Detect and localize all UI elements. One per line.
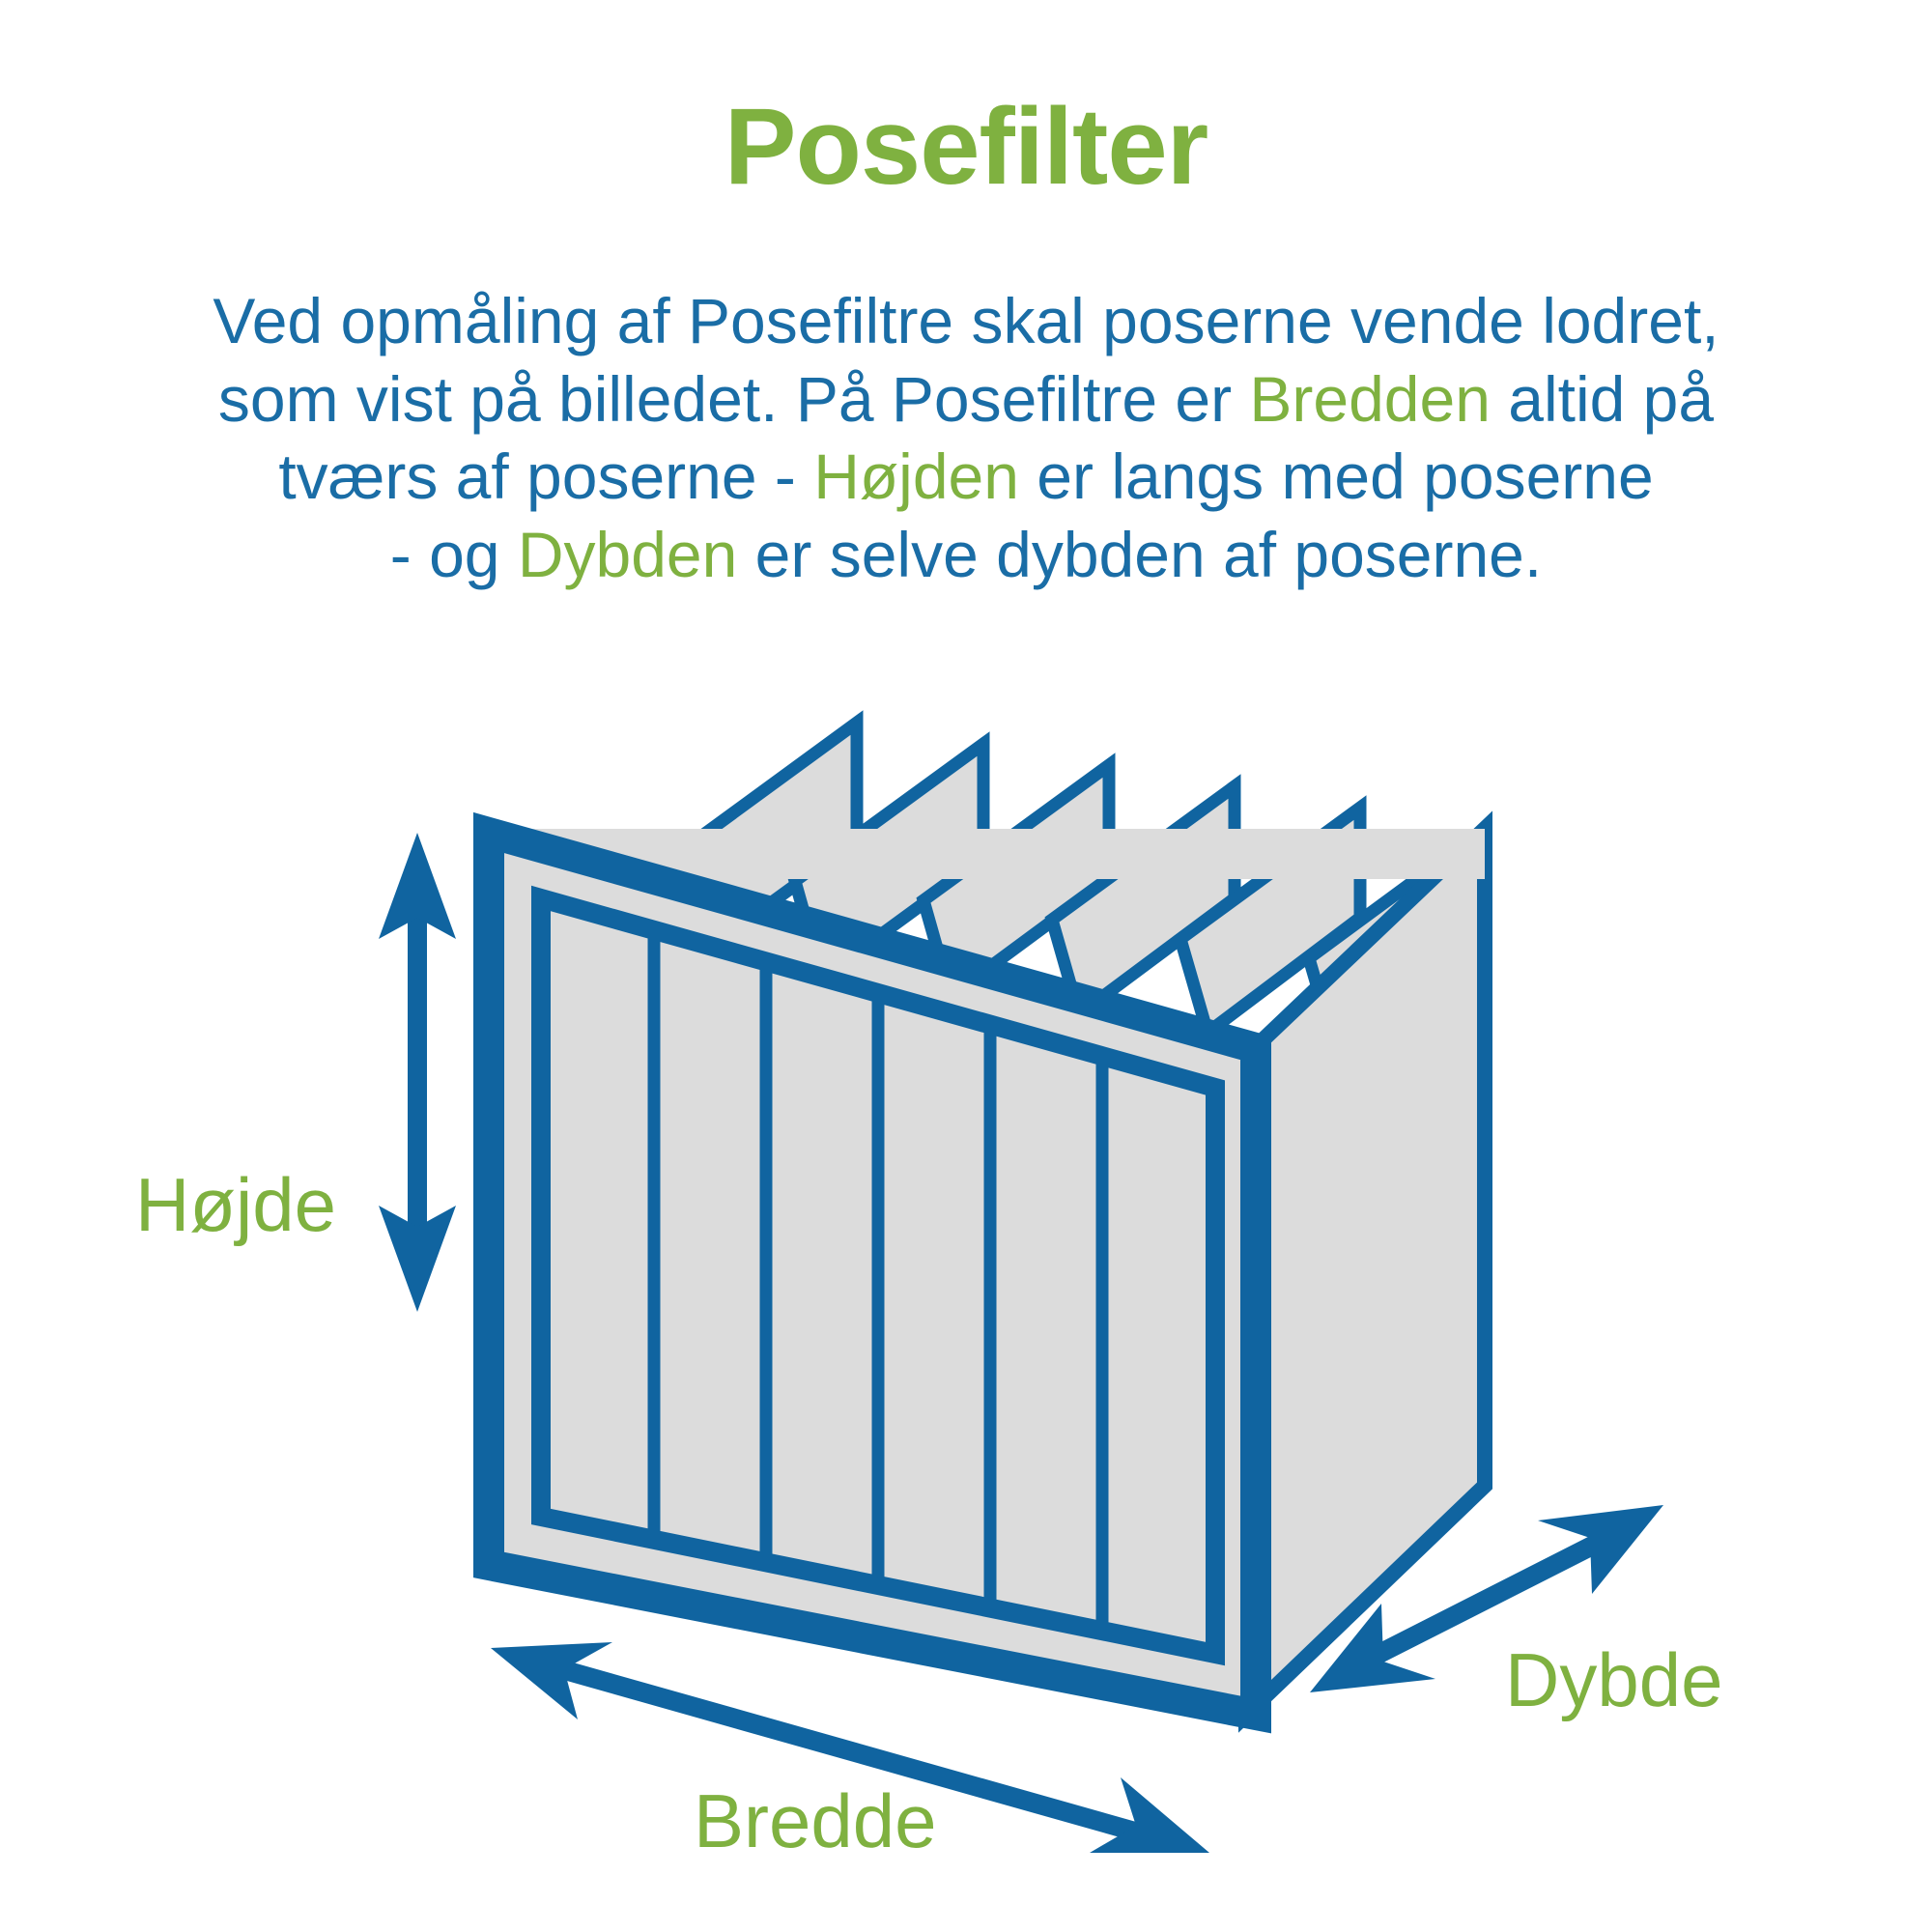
top-rail-fill <box>488 829 1485 879</box>
width-arrow-head-left <box>491 1642 612 1719</box>
top-rail-band <box>489 833 1256 1101</box>
intro-paragraph: Ved opmåling af Posefiltre skal poserne … <box>87 282 1845 593</box>
width-arrow-head-right <box>1090 1777 1209 1853</box>
intro-line-2-part-a: som vist på billedet. På Posefiltre er <box>218 363 1249 435</box>
intro-line-4-part-a: - og <box>390 519 518 590</box>
depth-arrow-head-lower-left <box>1310 1604 1435 1692</box>
front-bag-dividers <box>654 930 1102 1634</box>
front-inner-frame <box>541 898 1215 1654</box>
front-outer-frame <box>489 833 1256 1715</box>
intro-line-4-part-b: er selve dybden af poserne. <box>737 519 1542 590</box>
filter-bag-2 <box>795 744 983 978</box>
filter-bag-1 <box>667 723 857 959</box>
label-bredde: Bredde <box>694 1783 937 1859</box>
right-side-panel <box>1246 829 1485 1715</box>
intro-line-3-part-a: tværs af poserne - <box>278 440 813 512</box>
height-arrow-head-down <box>379 1206 456 1312</box>
highlight-bredden: Bredden <box>1249 363 1491 435</box>
filter-bag-3 <box>923 765 1109 996</box>
page-title: Posefilter <box>0 93 1932 201</box>
label-dybde: Dybde <box>1505 1642 1722 1718</box>
poster-canvas: Posefilter Ved opmåling af Posefiltre sk… <box>0 0 1932 1932</box>
height-arrow-head-up <box>379 833 456 939</box>
bag-blade-4 <box>1052 786 1235 1014</box>
intro-line-1: Ved opmåling af Posefiltre skal poserne … <box>213 285 1719 356</box>
bag-blade-1 <box>667 723 857 959</box>
filter-bag-6 <box>1309 829 1485 1051</box>
label-hojde: Højde <box>135 1167 336 1242</box>
filter-right-side-face <box>1246 829 1485 1715</box>
depth-arrow-head-upper-right <box>1538 1505 1663 1594</box>
filter-bags-group <box>667 723 1485 1051</box>
bag-blade-5 <box>1180 808 1360 1033</box>
filter-bag-5 <box>1180 808 1360 1033</box>
filter-front-face <box>489 833 1256 1715</box>
filter-bag-4 <box>1052 786 1235 1014</box>
height-arrow <box>379 833 456 1312</box>
bag-blade-6 <box>1309 829 1485 1051</box>
filter-top-rail <box>488 829 1485 1101</box>
intro-line-2-part-b: altid på <box>1491 363 1714 435</box>
intro-line-3-part-b: er langs med poserne <box>1019 440 1654 512</box>
highlight-dybden: Dybden <box>518 519 738 590</box>
highlight-hojden: Højden <box>813 440 1019 512</box>
bag-blade-3 <box>923 765 1109 996</box>
top-rail-edge <box>489 829 1485 833</box>
bag-blade-2 <box>795 744 983 978</box>
